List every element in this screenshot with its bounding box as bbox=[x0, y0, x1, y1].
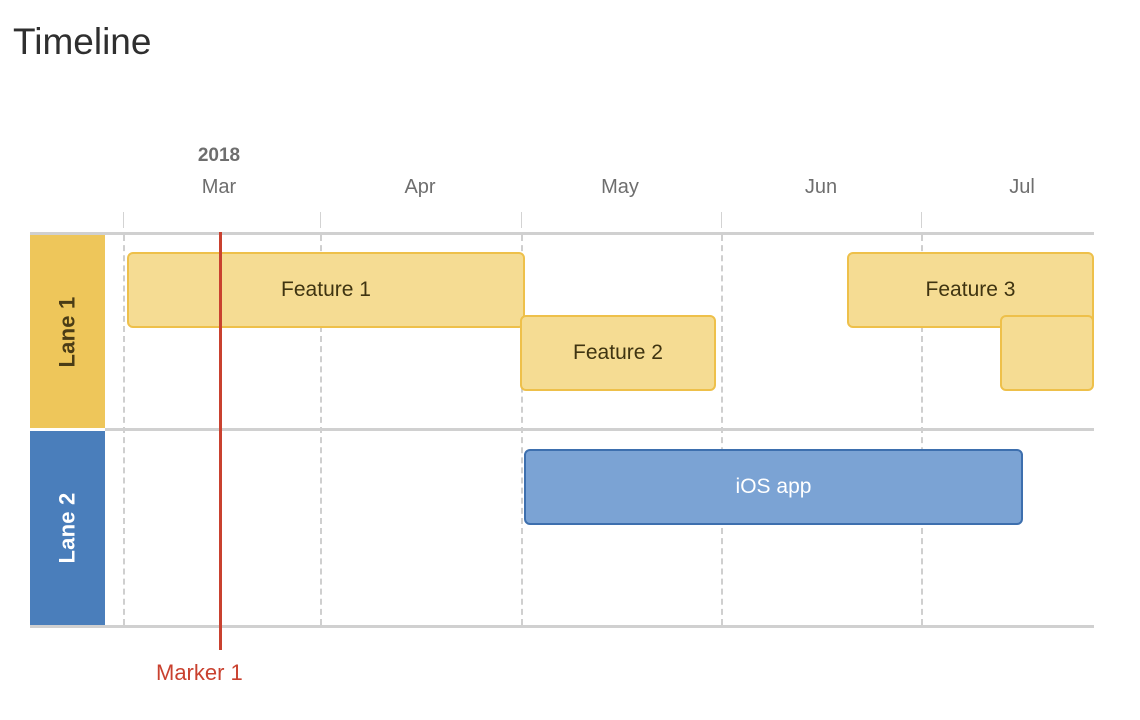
marker-label: Marker 1 bbox=[156, 660, 243, 686]
axis-month-label-apr: Apr bbox=[404, 176, 435, 199]
axis-tick-0 bbox=[123, 212, 124, 228]
axis-month-label-jul: Jul bbox=[1009, 176, 1035, 199]
axis-tick-1 bbox=[320, 212, 321, 228]
task-bar-label: Feature 1 bbox=[281, 278, 371, 302]
task-bar[interactable]: iOS app bbox=[524, 449, 1023, 525]
task-bar[interactable] bbox=[1000, 315, 1094, 391]
page-title: Timeline bbox=[13, 20, 151, 64]
lane-label-text: Lane 2 bbox=[55, 493, 81, 564]
lane-divider bbox=[105, 428, 1094, 431]
axis-month-label-jun: Jun bbox=[805, 176, 837, 199]
chart-bottom-border bbox=[30, 625, 1094, 628]
lane-label-lane-2[interactable]: Lane 2 bbox=[30, 431, 105, 625]
task-bar-label: Feature 2 bbox=[573, 341, 663, 365]
axis-year-label: 2018 bbox=[198, 145, 240, 167]
task-bar-label: Feature 3 bbox=[926, 278, 1016, 302]
timeline-chart: Timeline 2018 MarAprMayJunJul Lane 1 Lan… bbox=[0, 0, 1140, 720]
axis-tick-2 bbox=[521, 212, 522, 228]
plot-area: Feature 1Feature 2Feature 3iOS app bbox=[105, 235, 1094, 625]
lane-label-lane-1[interactable]: Lane 1 bbox=[30, 235, 105, 428]
lane-label-text: Lane 1 bbox=[55, 296, 81, 367]
axis-month-label-may: May bbox=[601, 176, 639, 199]
task-bar-label: iOS app bbox=[736, 475, 812, 499]
axis-tick-3 bbox=[721, 212, 722, 228]
task-bar[interactable]: Feature 1 bbox=[127, 252, 525, 328]
chart-plot-frame: Lane 1 Lane 2 Feature 1Feature 2Feature … bbox=[30, 232, 1094, 628]
axis-tick-4 bbox=[921, 212, 922, 228]
task-bar[interactable]: Feature 2 bbox=[520, 315, 716, 391]
time-axis-header: 2018 MarAprMayJunJul bbox=[0, 140, 1140, 232]
marker-line[interactable] bbox=[219, 232, 222, 650]
axis-month-label-mar: Mar bbox=[202, 176, 236, 199]
